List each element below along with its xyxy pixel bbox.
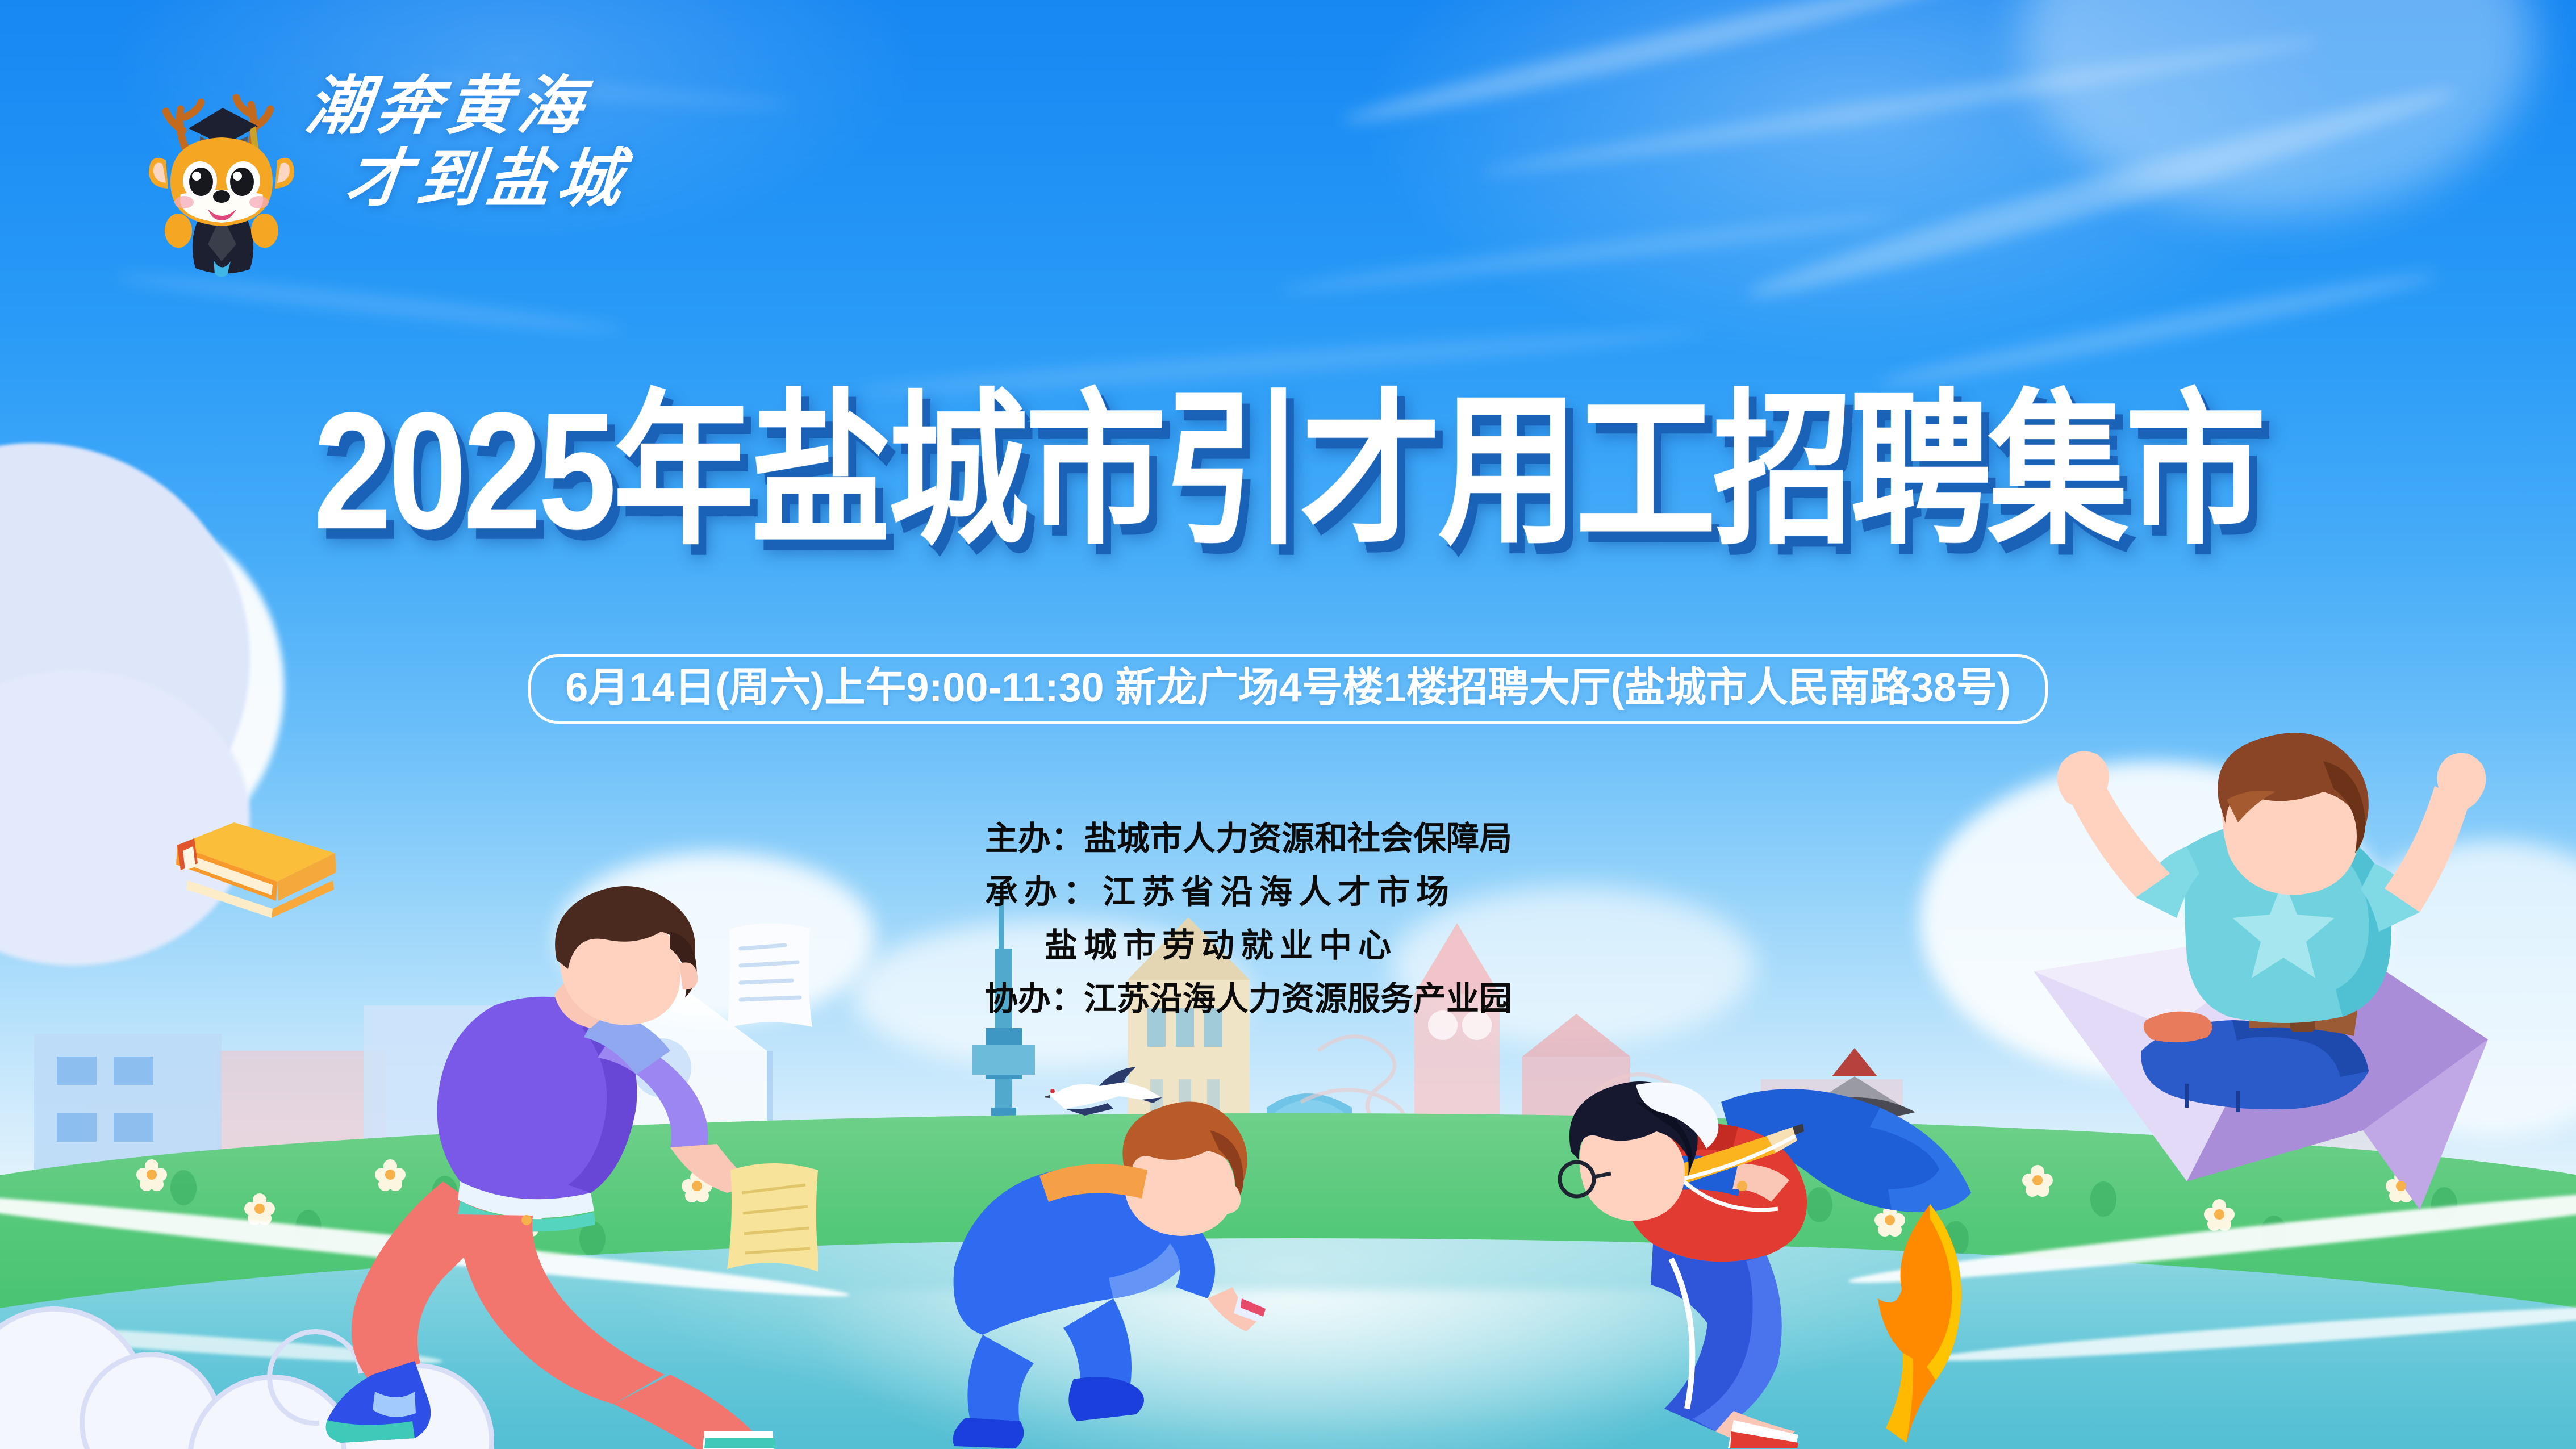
logo-slogan: 潮奔黄海 才到盐城	[301, 74, 699, 278]
event-details-badge: 6月14日(周六)上午9:00-11:30 新龙广场4号楼1楼招聘大厅(盐城市人…	[528, 654, 2047, 724]
logo-slogan-line1: 潮奔黄海	[297, 74, 703, 141]
host-line: 主办：盐城市人力资源和社会保障局	[985, 822, 1655, 855]
recruitment-fair-poster: 潮奔黄海 才到盐城 2025年盐城市引才用工招聘集市 6月14日(周六)上午9:…	[0, 0, 2576, 1449]
torch-flame-icon	[1869, 1199, 1982, 1443]
brand-logo: 潮奔黄海 才到盐城	[131, 68, 699, 295]
flower-icon	[244, 1193, 275, 1223]
paper-plane-flyer-icon	[1999, 733, 2567, 1244]
deer-mascot-icon	[136, 74, 307, 278]
page-title: 2025年盐城市引才用工招聘集市	[0, 383, 2576, 558]
logo-slogan-line2: 才到盐城	[297, 147, 703, 214]
event-details-wrap: 6月14日(周六)上午9:00-11:30 新龙广场4号楼1楼招聘大厅(盐城市人…	[0, 654, 2576, 724]
running-student-icon	[273, 863, 818, 1449]
organizer-line-2: 盐城市劳动就业中心	[985, 929, 1655, 962]
organizer-line: 承办：江苏省沿海人才市场	[985, 876, 1655, 909]
crouching-runner-icon	[943, 1096, 1306, 1448]
organizers-block: 主办：盐城市人力资源和社会保障局 承办：江苏省沿海人才市场 盐城市劳动就业中心 …	[985, 822, 1655, 1016]
flower-icon	[136, 1159, 167, 1189]
grass-dot	[170, 1170, 197, 1205]
coorganizer-line: 协办：江苏沿海人力资源服务产业园	[985, 983, 1655, 1016]
